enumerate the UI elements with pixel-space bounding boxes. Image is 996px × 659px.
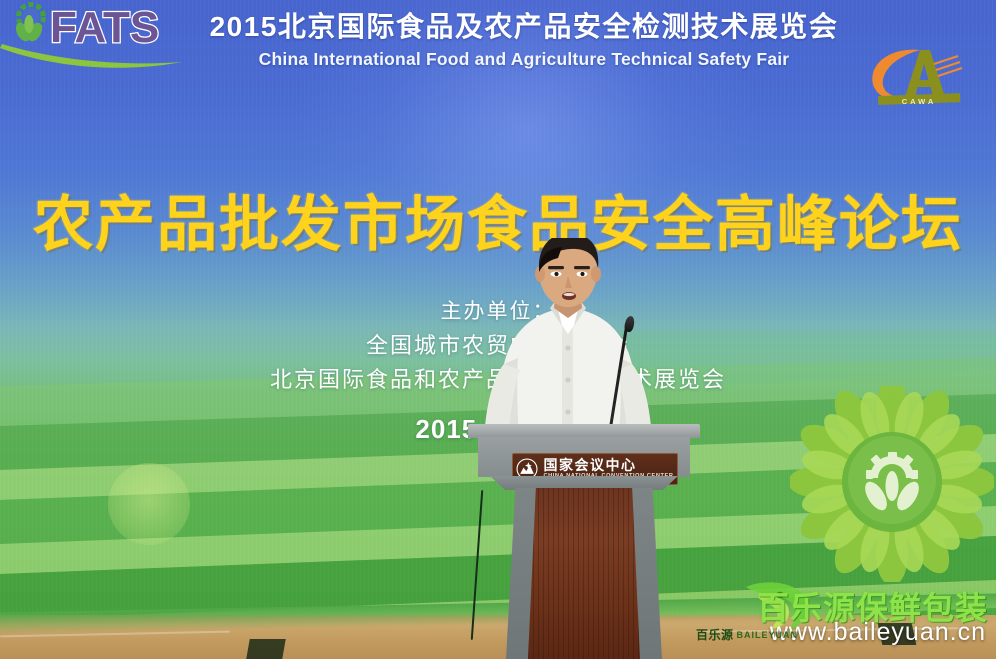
podium-bevel [490,476,678,490]
watermark-badge-cn: 百乐源 [696,626,734,643]
plaque-title-cn: 国家会议中心 [543,458,636,472]
podium-top-edge [468,424,700,438]
watermark-badge-en: BAILEYUAN [737,630,799,640]
cawa-logo-icon: CAWA [858,34,978,118]
photo-stage: FATS 2015北京国际食品及农产品安全检测技术展览会 China Inter… [0,0,996,659]
backdrop-header-band: FATS 2015北京国际食品及农产品安全检测技术展览会 China Inter… [0,0,996,118]
podium-cable [471,490,483,640]
podium-front-face: 国家会议中心 CHINA NATIONAL CONVENTION CENTER [478,437,690,477]
fair-title-block: 2015北京国际食品及农产品安全检测技术展览会 China Internatio… [188,10,860,71]
fats-logo: FATS [4,0,180,72]
watermark-badge: 百乐源 BAILEYUAN [696,626,798,643]
floor-line [0,631,230,638]
watermark-overlay: 百乐源保鲜包装 www.baileyuan.cn 百乐源 BAILEYUAN [696,573,994,655]
gear-leaf-emblem-icon [4,2,52,50]
fair-title-en: China International Food and Agriculture… [188,47,860,71]
fair-title-cn: 2015北京国际食品及农产品安全检测技术展览会 [188,10,860,44]
podium: 国家会议中心 CHINA NATIONAL CONVENTION CENTER [468,424,700,659]
green-sunflower-gear-leaf-emblem [790,386,994,582]
svg-text:CAWA: CAWA [902,97,937,106]
watermark-url: www.baileyuan.cn [770,618,986,647]
fats-swoosh-icon [0,44,184,72]
floor-object [246,639,286,659]
podium-wood-panel [528,488,640,659]
